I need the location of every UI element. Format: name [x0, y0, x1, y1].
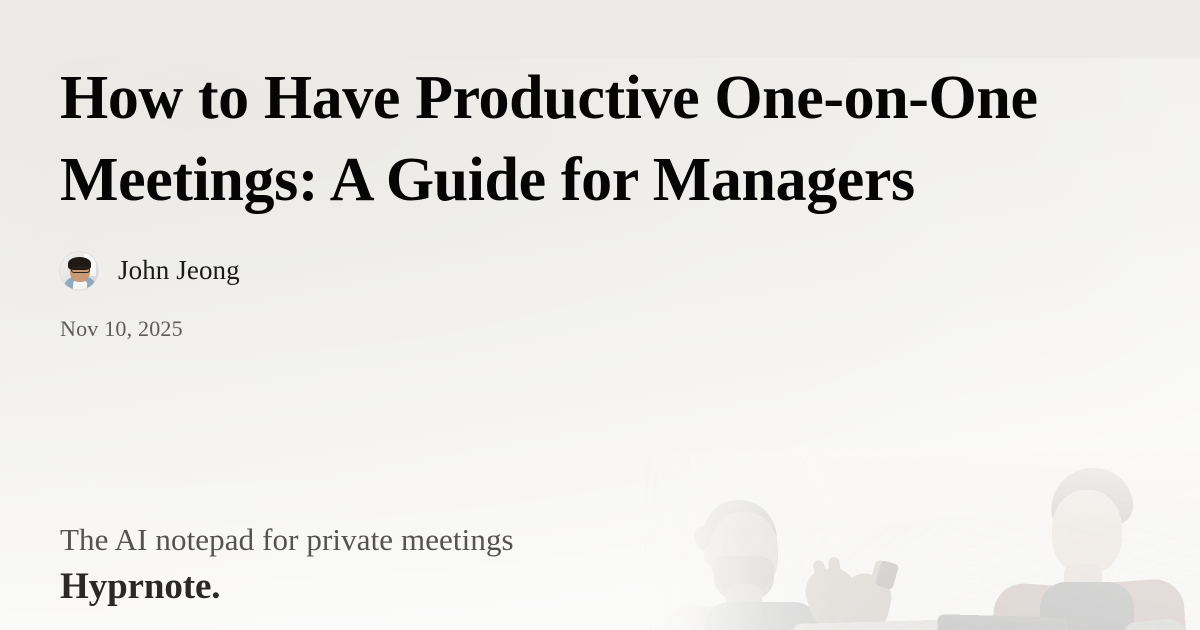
page-title: How to Have Productive One-on-One Meetin… — [60, 58, 1140, 222]
brand-name: Hyprnote. — [60, 563, 514, 611]
avatar — [60, 252, 98, 290]
hero-photo-fade-overlay — [640, 450, 1200, 630]
brand-tagline: The AI notepad for private meetings — [60, 521, 514, 559]
publish-date: Nov 10, 2025 — [60, 316, 1140, 342]
byline: John Jeong — [60, 252, 1140, 290]
author-name: John Jeong — [118, 255, 240, 286]
hero-photo — [640, 450, 1200, 630]
glasses-icon — [71, 267, 90, 273]
brand-lockup: The AI notepad for private meetings Hypr… — [60, 521, 514, 611]
card-content: How to Have Productive One-on-One Meetin… — [0, 58, 1200, 342]
